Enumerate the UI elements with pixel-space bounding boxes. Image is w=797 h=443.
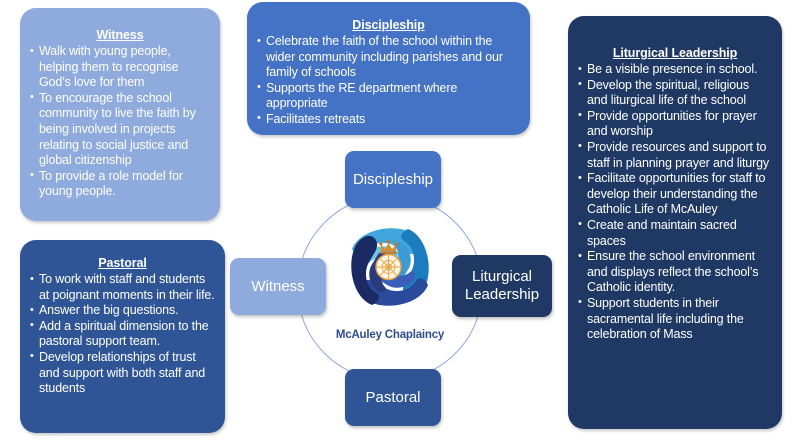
list-item: To provide a role model for young people…	[30, 169, 210, 200]
panel-pastoral: Pastoral To work with staff and students…	[20, 240, 225, 433]
four-hands-circle-crest-icon	[320, 210, 460, 328]
panel-discipleship-title: Discipleship	[257, 18, 520, 32]
panel-discipleship: Discipleship Celebrate the faith of the …	[247, 2, 530, 135]
panel-discipleship-list: Celebrate the faith of the school within…	[257, 34, 520, 128]
panel-witness: Witness Walk with young people, helping …	[20, 8, 220, 221]
list-item: Create and maintain sacred spaces	[578, 218, 772, 249]
list-item: Facilitate opportunities for staff to de…	[578, 171, 772, 218]
list-item: Develop relationships of trust and suppo…	[30, 350, 215, 397]
node-pastoral-label: Pastoral	[365, 389, 420, 407]
node-witness[interactable]: Witness	[230, 258, 326, 315]
logo-caption: McAuley Chaplaincy	[320, 329, 460, 341]
panel-liturgical-list: Be a visible presence in school. Develop…	[578, 62, 772, 343]
list-item: Ensure the school environment and displa…	[578, 249, 772, 296]
panel-pastoral-title: Pastoral	[30, 256, 215, 270]
list-item: Add a spiritual dimension to the pastora…	[30, 319, 215, 350]
list-item: Develop the spiritual, religious and lit…	[578, 78, 772, 109]
list-item: Provide opportunities for prayer and wor…	[578, 109, 772, 140]
list-item: Supports the RE department where appropr…	[257, 81, 520, 112]
panel-liturgical-leadership: Liturgical Leadership Be a visible prese…	[568, 16, 782, 429]
list-item: Be a visible presence in school.	[578, 62, 772, 78]
list-item: To encourage the school community to liv…	[30, 91, 210, 169]
panel-pastoral-list: To work with staff and students at poign…	[30, 272, 215, 397]
node-witness-label: Witness	[251, 278, 304, 296]
chaplaincy-diagram-canvas: Witness Walk with young people, helping …	[0, 0, 797, 443]
node-liturgical-leadership[interactable]: Liturgical Leadership	[452, 255, 552, 317]
node-discipleship[interactable]: Discipleship	[345, 151, 441, 208]
node-pastoral[interactable]: Pastoral	[345, 369, 441, 426]
list-item: Support students in their sacramental li…	[578, 296, 772, 343]
list-item: Answer the big questions.	[30, 303, 215, 319]
node-discipleship-label: Discipleship	[353, 171, 433, 189]
node-liturgical-label: Liturgical Leadership	[452, 268, 552, 304]
mcauley-chaplaincy-logo: McAuley Chaplaincy	[320, 210, 460, 365]
chaplaincy-ring-group: McAuley Chaplaincy Discipleship Witness …	[266, 164, 514, 412]
list-item: To work with staff and students at poign…	[30, 272, 215, 303]
panel-liturgical-title: Liturgical Leadership	[578, 46, 772, 60]
list-item: Celebrate the faith of the school within…	[257, 34, 520, 81]
list-item: Walk with young people, helping them to …	[30, 44, 210, 91]
panel-witness-title: Witness	[30, 28, 210, 42]
list-item: Facilitates retreats	[257, 112, 520, 128]
list-item: Provide resources and support to staff i…	[578, 140, 772, 171]
panel-witness-list: Walk with young people, helping them to …	[30, 44, 210, 200]
